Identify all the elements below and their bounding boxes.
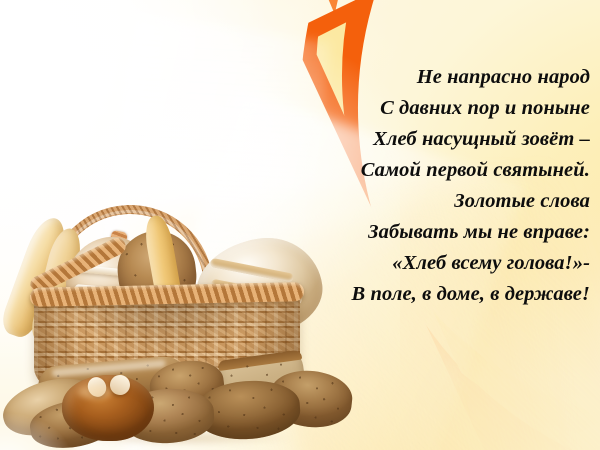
poem-line: Золотые слова [300, 186, 590, 217]
poem-line: Не напрасно народ [300, 62, 590, 93]
poem-line: С давних пор и поныне [300, 93, 590, 124]
background-corner-fade [0, 370, 140, 450]
poem-line: Хлеб насущный зовёт – [300, 124, 590, 155]
poem-line: В поле, в доме, в державе! [300, 279, 590, 310]
poem-text-block: Не напрасно народ С давних пор и поныне … [300, 62, 590, 310]
poem-line: «Хлеб всему голова!»- [300, 248, 590, 279]
poem-line: Забывать мы не вправе: [300, 217, 590, 248]
slide-canvas: Не напрасно народ С давних пор и поныне … [0, 0, 600, 450]
bread-slash [210, 258, 294, 283]
poem-line: Самой первой святыней. [300, 155, 590, 186]
